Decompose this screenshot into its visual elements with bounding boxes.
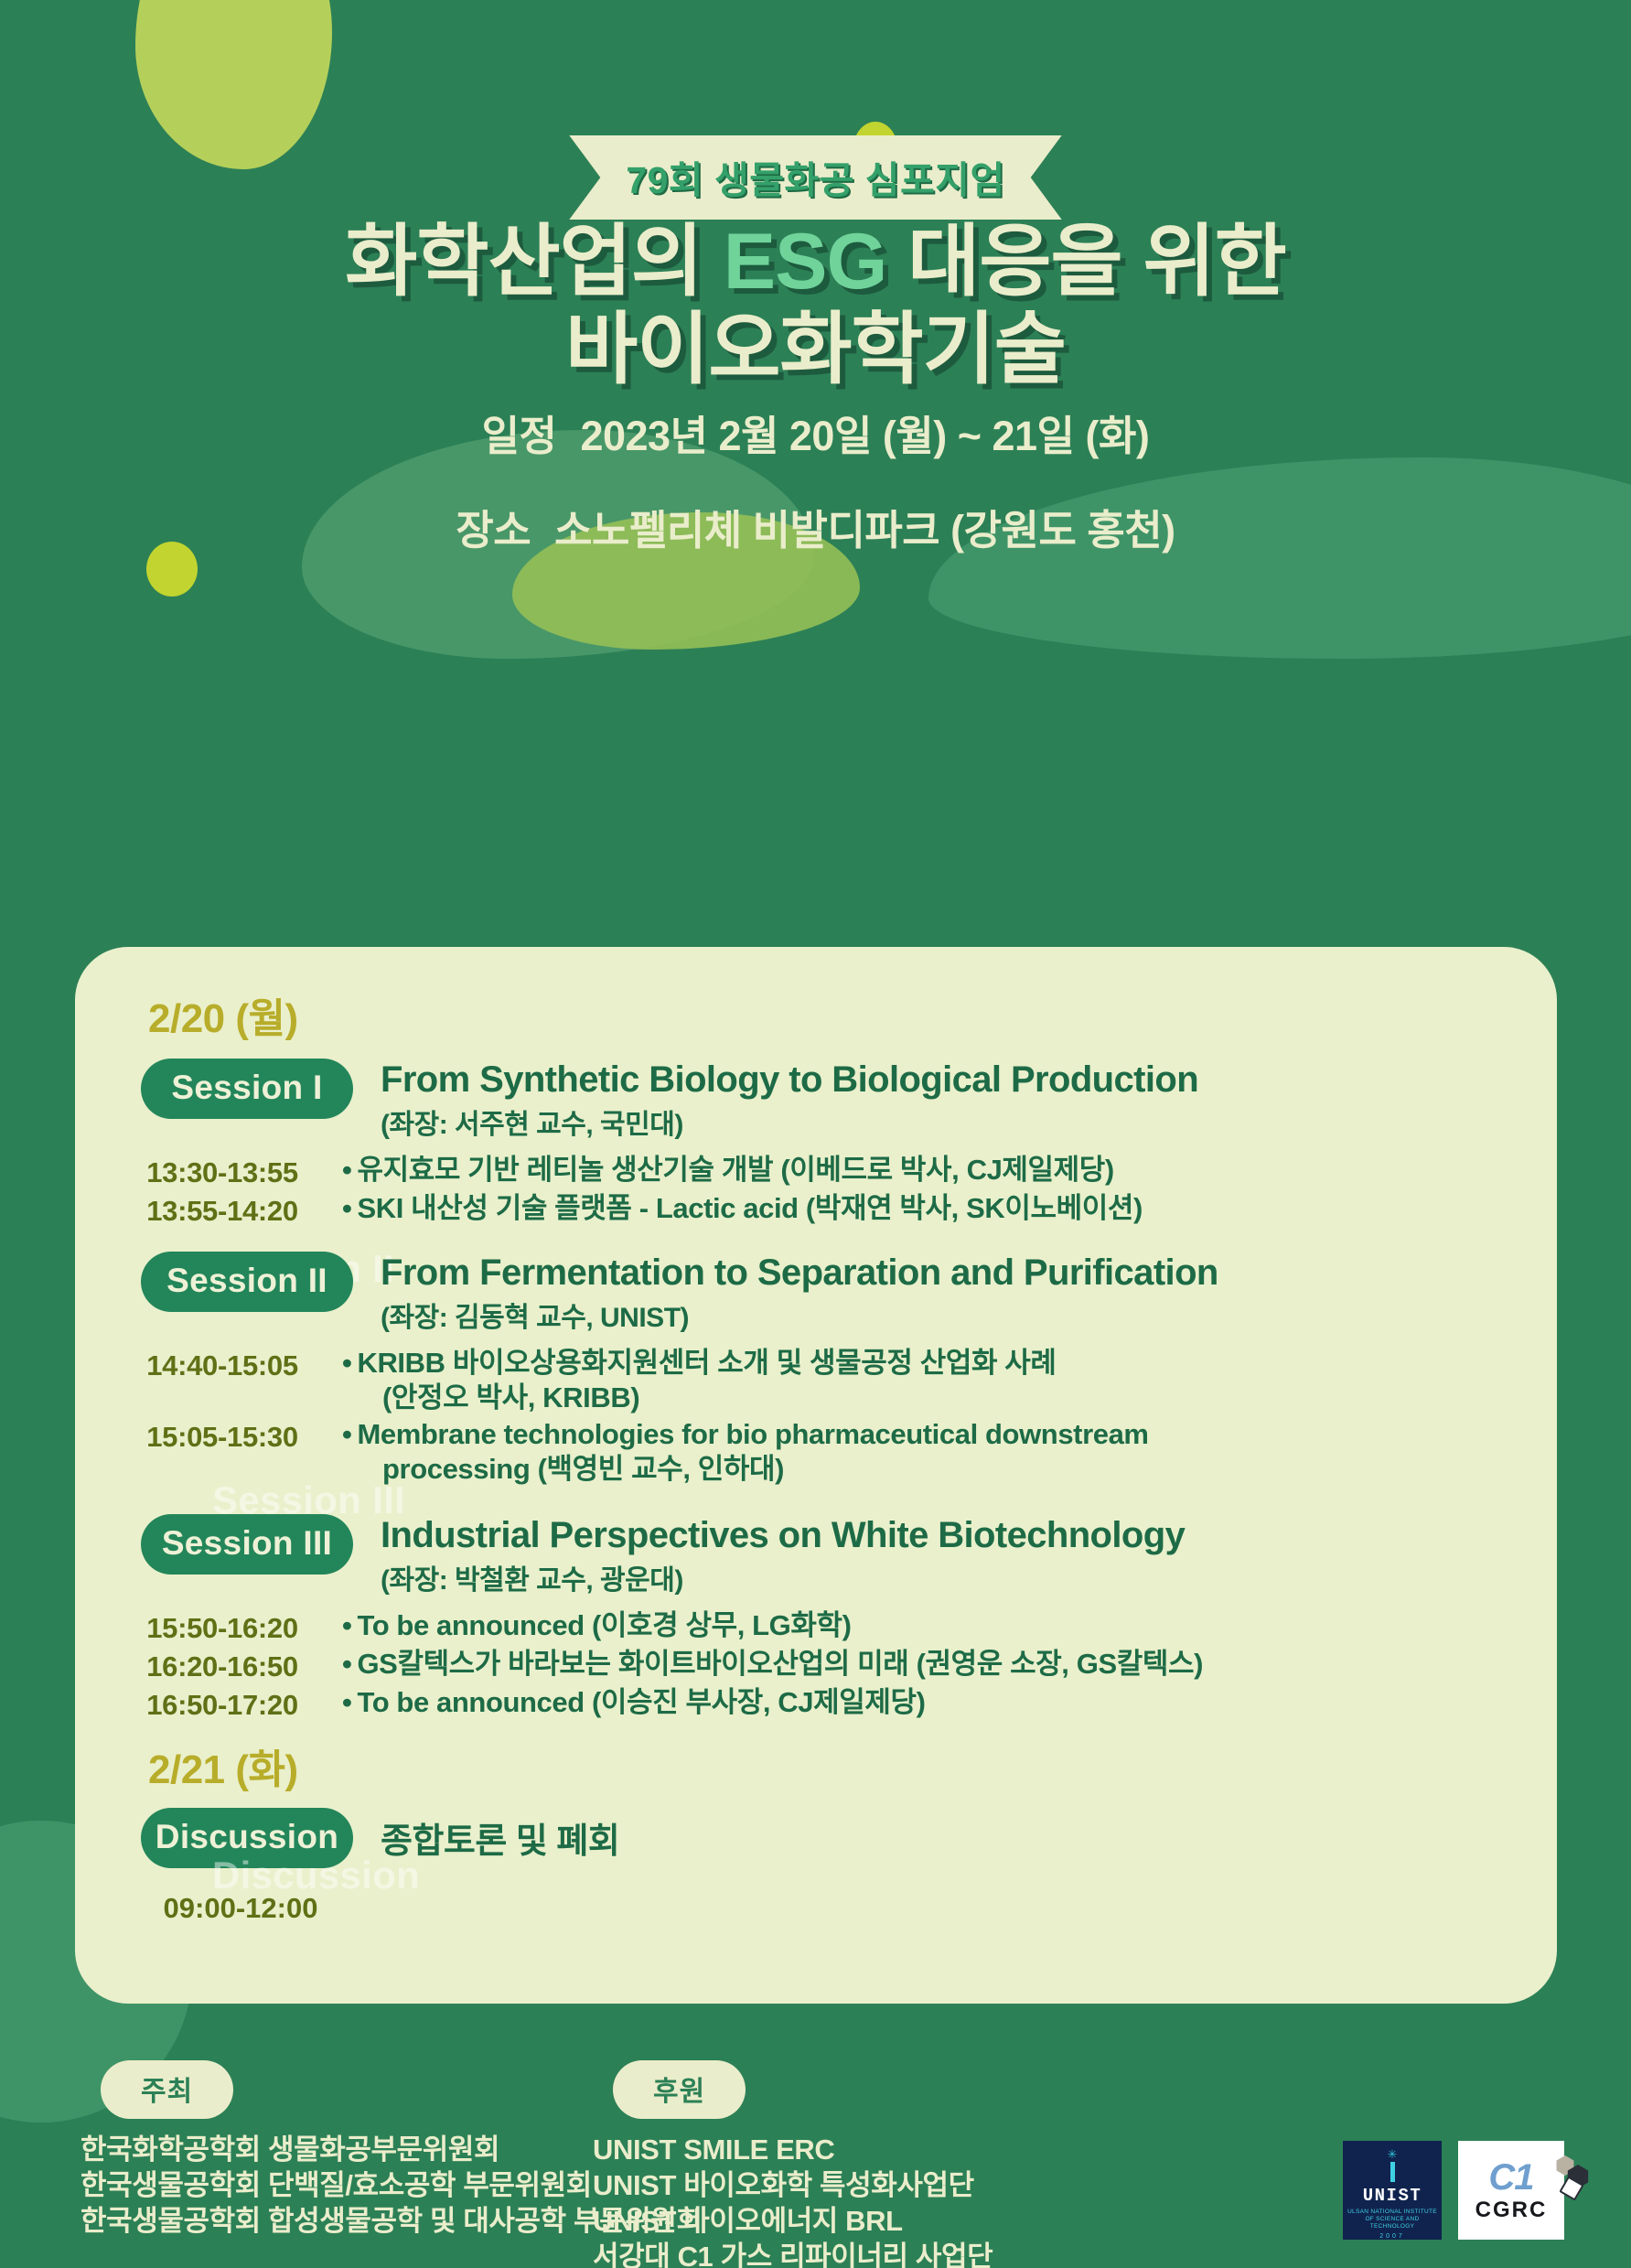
schedule-card: 2/20 (월) Session I From Synthetic Biolog…	[75, 947, 1557, 2004]
date-value: 2023년 2월 20일 (월) ~ 21일 (화)	[580, 413, 1149, 459]
talk-time: 16:20-16:50	[123, 1647, 322, 1683]
day-heading-2: 2/21 (화)	[148, 1736, 1509, 1795]
talk-time: 13:55-14:20	[123, 1191, 322, 1228]
discussion-time: 09:00-12:00	[141, 1892, 340, 1925]
list-item: 서강대 C1 가스 리파이너리 사업단	[593, 2239, 993, 2268]
talk-body: •유지효모 기반 레티놀 생산기술 개발 (이베드로 박사, CJ제일제당)	[322, 1153, 1114, 1188]
session-pill-label-3: Session III	[162, 1524, 332, 1562]
talk-row: 13:30-13:55 •유지효모 기반 레티놀 생산기술 개발 (이베드로 박…	[123, 1153, 1509, 1189]
discussion-pill: Discussion	[141, 1808, 353, 1868]
talk-body: •To be announced (이승진 부사장, CJ제일제당)	[322, 1685, 926, 1720]
organizer-tag: 주최	[101, 2060, 233, 2119]
talk-list-3: 15:50-16:20 •To be announced (이호경 상무, LG…	[123, 1608, 1509, 1722]
page-title: 화학산업의 ESG 대응을 위한 바이오화학기술	[0, 218, 1631, 394]
talk-text: To be announced (이승진 부사장, CJ제일제당)	[357, 1686, 925, 1718]
session-block-2: Session II From Fermentation to Separati…	[123, 1252, 1509, 1486]
title-line-1: 화학산업의 ESG 대응을 위한	[0, 218, 1631, 306]
bullet-icon: •	[342, 1609, 351, 1641]
sponsor-column: 후원 UNIST SMILE ERC UNIST 바이오화학 특성화사업단 UN…	[593, 2060, 993, 2268]
discussion-block: Discussion 종합토론 및 폐회 09:00-12:00 Discuss…	[123, 1808, 1509, 1925]
talk-row: 16:50-17:20 •To be announced (이승진 부사장, C…	[123, 1685, 1509, 1722]
discussion-row: Discussion 종합토론 및 폐회	[123, 1808, 1509, 1868]
session-pill-label-2: Session II	[166, 1262, 327, 1299]
session-pill-1: Session I	[141, 1059, 353, 1119]
ribbon-banner: 79회 생물화공 심포지엄	[0, 135, 1631, 220]
bullet-icon: •	[342, 1192, 351, 1224]
bullet-icon: •	[342, 1347, 351, 1379]
session-header-3: Session III Industrial Perspectives on W…	[123, 1514, 1509, 1597]
talk-list-1: 13:30-13:55 •유지효모 기반 레티놀 생산기술 개발 (이베드로 박…	[123, 1153, 1509, 1228]
session-chair-3: (좌장: 박철환 교수, 광운대)	[381, 1557, 1185, 1597]
talk-text: Membrane technologies for bio pharmaceut…	[357, 1418, 1148, 1450]
discussion-title: 종합토론 및 폐회	[381, 1812, 619, 1863]
session-title-1: From Synthetic Biology to Biological Pro…	[381, 1060, 1198, 1100]
organizer-tag-label: 주최	[141, 2077, 193, 2107]
talk-row: 15:05-15:30 •Membrane technologies for b…	[123, 1417, 1509, 1487]
list-item: UNIST 바이오화학 특성화사업단	[593, 2167, 993, 2203]
logo-strip: ✳ UNIST ULSAN NATIONAL INSTITUTE OF SCIE…	[1343, 2141, 1564, 2240]
talk-text: 유지효모 기반 레티놀 생산기술 개발 (이베드로 박사, CJ제일제당)	[357, 1154, 1113, 1186]
session-pill-2: Session II	[141, 1252, 353, 1312]
bullet-icon: •	[342, 1154, 351, 1186]
bullet-icon: •	[342, 1686, 351, 1718]
talk-time: 14:40-15:05	[123, 1346, 322, 1382]
title-text-post: 대응을 위한	[886, 218, 1285, 306]
list-item: UNIST 바이오에너지 BRL	[593, 2203, 993, 2239]
session-titles-1: From Synthetic Biology to Biological Pro…	[381, 1059, 1198, 1142]
talk-list-2: 14:40-15:05 •KRIBB 바이오상용화지원센터 소개 및 생물공정 …	[123, 1346, 1509, 1486]
talk-continuation: processing (백영빈 교수, 인하대)	[362, 1452, 1149, 1487]
event-place-row: 장소소노펠리체 비발디파크 (강원도 홍천)	[0, 497, 1631, 556]
session-pill-3: Session III	[141, 1514, 353, 1575]
session-block-3: Session III Industrial Perspectives on W…	[123, 1514, 1509, 1722]
cgrc-logo-word: CGRC	[1475, 2199, 1548, 2221]
sponsor-list: UNIST SMILE ERC UNIST 바이오화학 특성화사업단 UNIST…	[593, 2132, 993, 2268]
talk-body: •GS칼텍스가 바라보는 화이트바이오산업의 미래 (권영운 소장, GS칼텍스…	[322, 1647, 1203, 1682]
place-value: 소노펠리체 비발디파크 (강원도 홍천)	[554, 507, 1175, 554]
session-titles-2: From Fermentation to Separation and Puri…	[381, 1252, 1218, 1335]
discussion-pill-label: Discussion	[156, 1818, 338, 1855]
unist-logo-subtitle: ULSAN NATIONAL INSTITUTE OF SCIENCE AND …	[1343, 2209, 1442, 2230]
event-date-row: 일정2023년 2월 20일 (월) ~ 21일 (화)	[0, 403, 1631, 462]
talk-time: 15:50-16:20	[123, 1608, 322, 1645]
talk-time: 16:50-17:20	[123, 1685, 322, 1722]
session-header-1: Session I From Synthetic Biology to Biol…	[123, 1059, 1509, 1142]
title-text-pre: 화학산업의	[345, 218, 724, 306]
unist-logo: ✳ UNIST ULSAN NATIONAL INSTITUTE OF SCIE…	[1343, 2141, 1442, 2240]
title-line-2: 바이오화학기술	[0, 306, 1631, 393]
talk-row: 14:40-15:05 •KRIBB 바이오상용화지원센터 소개 및 생물공정 …	[123, 1346, 1509, 1415]
day-heading-1: 2/20 (월)	[148, 985, 1509, 1044]
talk-text: To be announced (이호경 상무, LG화학)	[357, 1609, 851, 1641]
sponsor-tag-label: 후원	[653, 2077, 705, 2107]
session-titles-3: Industrial Perspectives on White Biotech…	[381, 1514, 1185, 1597]
talk-body: •SKI 내산성 기술 플랫폼 - Lactic acid (박재연 박사, S…	[322, 1191, 1143, 1226]
talk-time: 15:05-15:30	[123, 1417, 322, 1454]
unist-spark-icon: ✳	[1388, 2148, 1398, 2160]
place-label: 장소	[456, 507, 531, 554]
session-chair-1: (좌장: 서주현 교수, 국민대)	[381, 1102, 1198, 1142]
talk-body: •Membrane technologies for bio pharmaceu…	[322, 1417, 1149, 1487]
bullet-icon: •	[342, 1418, 351, 1450]
session-chair-2: (좌장: 김동혁 교수, UNIST)	[381, 1295, 1218, 1335]
talk-text: SKI 내산성 기술 플랫폼 - Lactic acid (박재연 박사, SK…	[357, 1192, 1142, 1224]
session-title-2: From Fermentation to Separation and Puri…	[381, 1253, 1218, 1293]
talk-row: 15:50-16:20 •To be announced (이호경 상무, LG…	[123, 1608, 1509, 1645]
talk-continuation: (안정오 박사, KRIBB)	[362, 1381, 1057, 1415]
session-header-2: Session II From Fermentation to Separati…	[123, 1252, 1509, 1335]
talk-time: 13:30-13:55	[123, 1153, 322, 1189]
date-label: 일정	[482, 413, 557, 459]
session-title-3: Industrial Perspectives on White Biotech…	[381, 1516, 1185, 1555]
talk-body: •To be announced (이호경 상무, LG화학)	[322, 1608, 852, 1643]
session-pill-label-1: Session I	[171, 1069, 322, 1106]
session-block-1: Session I From Synthetic Biology to Biol…	[123, 1059, 1509, 1228]
talk-text: GS칼텍스가 바라보는 화이트바이오산업의 미래 (권영운 소장, GS칼텍스)	[357, 1648, 1203, 1680]
title-accent-esg: ESG	[724, 218, 887, 306]
talk-row: 16:20-16:50 •GS칼텍스가 바라보는 화이트바이오산업의 미래 (권…	[123, 1647, 1509, 1683]
sponsor-tag: 후원	[613, 2060, 746, 2119]
talk-row: 13:55-14:20 •SKI 내산성 기술 플랫폼 - Lactic aci…	[123, 1191, 1509, 1228]
talk-text: KRIBB 바이오상용화지원센터 소개 및 생물공정 산업화 사례	[357, 1347, 1056, 1379]
unist-logo-name: UNIST	[1363, 2186, 1422, 2206]
list-item: UNIST SMILE ERC	[593, 2132, 993, 2167]
bullet-icon: •	[342, 1648, 351, 1680]
ribbon-shape: 79회 생물화공 심포지엄	[569, 135, 1061, 220]
unist-logo-year: 2007	[1379, 2233, 1405, 2240]
unist-bar-icon	[1390, 2162, 1395, 2182]
symposium-edition-label: 79회 생물화공 심포지엄	[626, 149, 1004, 204]
talk-body: •KRIBB 바이오상용화지원센터 소개 및 생물공정 산업화 사례(안정오 박…	[322, 1346, 1057, 1415]
c1-cgrc-logo: C1 CGRC	[1458, 2141, 1564, 2240]
cgrc-logo-mark: C1	[1488, 2159, 1533, 2196]
event-info: 일정2023년 2월 20일 (월) ~ 21일 (화) 장소소노펠리체 비발디…	[0, 403, 1631, 591]
